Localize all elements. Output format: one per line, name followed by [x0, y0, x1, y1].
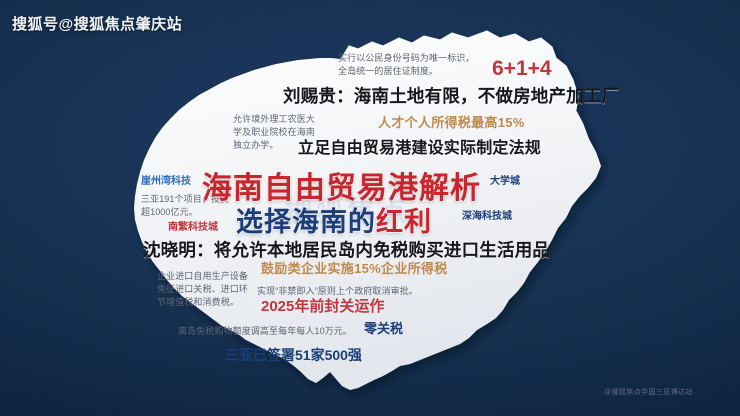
- poster-canvas: 搜狐焦点 实行以公民身份号码为唯一标识，全岛统一的居住证制度。 6+1+4 刘赐…: [0, 0, 740, 416]
- callout-yazhou-bay: 崖州湾科技: [141, 176, 191, 187]
- callout-talent-tax: 人才个人所得税最高15%: [378, 116, 525, 131]
- callout-law-making: 立足自由贸易港建设实际制定法规: [298, 140, 541, 158]
- callout-shen-xiao-ming: 沈晓明：将允许本地居民岛内免税购买进口生活用品: [143, 241, 550, 261]
- callout-university-town: 大学城: [490, 176, 520, 187]
- callout-zero-tariff: 零关税: [364, 322, 403, 337]
- callout-idcard: 实行以公民身份号码为唯一标识，全岛统一的居住证制度。: [338, 52, 478, 78]
- callout-seal-2025: 2025年前封关运作: [261, 299, 384, 316]
- watermark-bottom-right: @搜狐焦点中国三亚博达站: [604, 387, 693, 397]
- callout-import-equipment: 企业进口自用生产设备免征进口关税、进口环节增值税和消费税。: [157, 270, 253, 309]
- callout-non-prohibited-entry: 实现“非禁即入”原则上个政府取消审批。: [257, 285, 437, 298]
- poster-title-sub: 选择海南的红利: [236, 200, 432, 239]
- callout-six-one-four: 6+1+4: [492, 57, 552, 81]
- callout-deepsea-city: 深海科技城: [462, 211, 512, 222]
- callout-nanfan-city: 南繁科技城: [168, 222, 218, 233]
- poster-title-sub-prefix: 选择海南的: [236, 207, 376, 237]
- poster-title-sub-highlight: 红利: [376, 207, 432, 237]
- watermark-top-left: 搜狐号@搜狐焦点肇庆站: [12, 13, 182, 34]
- callout-duty-free-quota: 离岛免税购物额度调高至每年每人10万元。: [178, 325, 378, 338]
- callout-encouraged-enterprise-tax: 鼓励类企业实施15%企业所得税: [261, 262, 448, 277]
- callout-sanya-fortune500: 三亚已签署51家500强: [225, 348, 362, 364]
- callout-liu-ci-gui: 刘赐贵：海南土地有限，不做房地产加工厂: [283, 87, 619, 107]
